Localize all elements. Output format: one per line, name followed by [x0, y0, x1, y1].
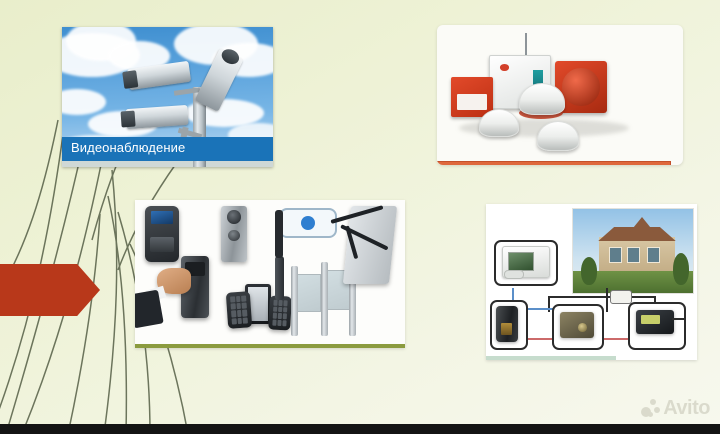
intercom-diagram [486, 204, 697, 360]
caption-intercom: Домофония [486, 356, 616, 360]
house-photo [572, 208, 694, 294]
tree [581, 257, 597, 285]
avito-wordmark: Avito [663, 397, 710, 420]
caption-fire-security-alarm: охранно-пожарная сигнализация [437, 161, 671, 165]
indicator-light [500, 64, 510, 71]
electric-lock [560, 312, 594, 338]
slide-canvas: Видеонаблюдение охранно-пожарная сигнали… [0, 0, 720, 434]
keypad [226, 291, 252, 329]
house-window [627, 247, 640, 263]
panel-video-surveillance[interactable]: Видеонаблюдение [62, 27, 273, 167]
power-supply-label [641, 315, 660, 324]
tree [673, 253, 689, 285]
speaker-grille [228, 230, 240, 241]
sign-mast [275, 210, 283, 258]
wire [606, 288, 608, 312]
caption-access-control: СИСТЕМА контроля и управления доступом [135, 344, 405, 348]
smoke-detector [519, 83, 565, 115]
monitor-screen [508, 252, 535, 271]
bottom-letterbox-bar [0, 424, 720, 434]
keypad-grid [230, 296, 248, 324]
keypad [268, 295, 292, 330]
avito-dots-icon [641, 399, 660, 418]
info-badge-icon [301, 216, 315, 230]
door-station [221, 206, 247, 262]
wire [548, 296, 656, 298]
outdoor-call-panel [496, 306, 518, 342]
info-sign [279, 208, 337, 238]
camera-lens [227, 210, 241, 223]
sign-post [275, 256, 284, 300]
house-window [609, 247, 622, 263]
terminal-screen [151, 211, 173, 224]
call-point-window [457, 94, 487, 110]
fingerprint-scanner [150, 237, 174, 252]
red-arrow-accent [0, 264, 100, 316]
caption-video-surveillance: Видеонаблюдение [62, 137, 273, 161]
biometric-terminal [145, 206, 179, 262]
keypad-grid [272, 300, 288, 327]
power-cable [672, 318, 686, 320]
camera-lens [122, 70, 138, 89]
smoke-detector [537, 121, 579, 151]
panel-fire-security-alarm[interactable]: охранно-пожарная сигнализация [437, 25, 683, 165]
smoke-detector [479, 109, 519, 137]
lock-cylinder [578, 323, 587, 332]
junction-box [610, 290, 632, 304]
gate-column [291, 266, 298, 336]
camera-lens [121, 111, 136, 128]
avito-watermark: Avito [641, 397, 710, 420]
gate-column [321, 262, 328, 336]
access-control-photo [135, 200, 405, 348]
fire-alarm-photo [437, 25, 683, 165]
house-window [647, 247, 660, 263]
sounder-dome [562, 68, 599, 105]
power-supply [636, 310, 674, 334]
handset [504, 270, 524, 279]
call-panel-keys [501, 323, 512, 335]
manual-call-point [451, 77, 493, 117]
panel-intercom[interactable]: Домофония [486, 204, 697, 360]
panel-access-control[interactable]: СИСТЕМА контроля и управления доступом [135, 200, 405, 348]
